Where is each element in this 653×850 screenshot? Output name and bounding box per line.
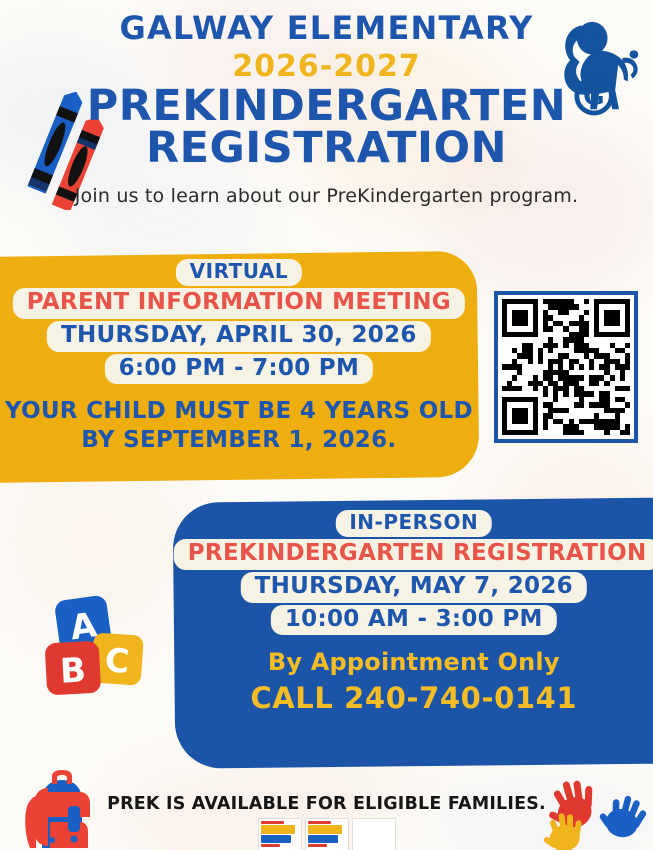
svg-text:B: B	[59, 650, 87, 691]
virtual-event-name: PARENT INFORMATION MEETING	[13, 288, 465, 319]
virtual-event-date: THURSDAY, APRIL 30, 2026	[47, 321, 431, 352]
school-name: GALWAY ELEMENTARY	[0, 12, 653, 46]
age-requirement-line-1: YOUR CHILD MUST BE 4 YEARS OLD	[0, 398, 478, 425]
eligibility-note: PREK IS AVAILABLE FOR ELIGIBLE FAMILIES.	[0, 794, 653, 814]
flyer-thumbnail-icon	[258, 818, 398, 850]
flyer-thumbnail-3	[352, 818, 396, 850]
poster-header: GALWAY ELEMENTARY 2026-2027 PREKINDERGAR…	[0, 0, 653, 207]
inperson-mode-label: IN-PERSON	[335, 510, 492, 537]
virtual-mode-label: VIRTUAL	[176, 259, 302, 286]
title-line-2: REGISTRATION	[0, 127, 653, 171]
abc-blocks-icon: A C B	[34, 592, 158, 698]
flyer-thumbnail-1	[258, 818, 302, 850]
virtual-event-panel: VIRTUAL PARENT INFORMATION MEETING THURS…	[0, 251, 479, 483]
virtual-event-time: 6:00 PM - 7:00 PM	[105, 354, 374, 385]
age-requirement-line-2: BY SEPTEMBER 1, 2026.	[0, 427, 478, 454]
inperson-event-time: 10:00 AM - 3:00 PM	[271, 605, 557, 636]
inperson-event-panel: IN-PERSON PREKINDERGARTEN REGISTRATION T…	[173, 497, 653, 768]
school-year: 2026-2027	[0, 51, 653, 83]
subtitle: Join us to learn about our PreKindergart…	[0, 185, 653, 207]
svg-text:C: C	[104, 640, 131, 681]
page-title: PREKINDERGARTEN REGISTRATION	[0, 85, 653, 171]
inperson-event-date: THURSDAY, MAY 7, 2026	[241, 572, 587, 603]
qr-code-icon[interactable]	[494, 291, 638, 443]
appointment-note: By Appointment Only	[174, 648, 653, 676]
inperson-event-name: PREKINDERGARTEN REGISTRATION	[174, 539, 653, 570]
phone-number[interactable]: CALL 240-740-0141	[174, 681, 653, 715]
flyer-poster: G	[0, 0, 653, 850]
flyer-thumbnail-2	[305, 818, 349, 850]
